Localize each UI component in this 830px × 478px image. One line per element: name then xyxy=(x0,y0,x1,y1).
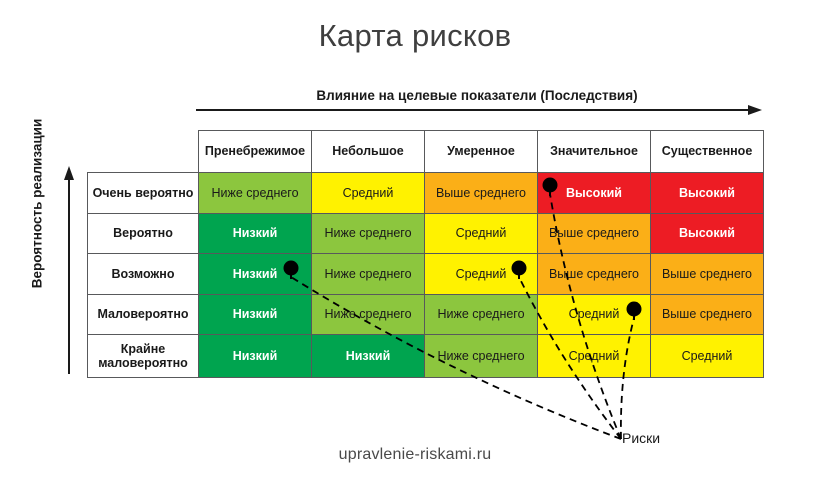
up-arrow-icon xyxy=(62,166,76,374)
matrix-cell-0-0[interactable]: Ниже среднего xyxy=(199,173,312,214)
risk-matrix: Пренебрежимое Небольшое Умеренное Значит… xyxy=(87,130,764,378)
page-title: Карта рисков xyxy=(0,18,830,54)
matrix-cell-4-0[interactable]: Низкий xyxy=(199,335,312,378)
column-header-2: Умеренное xyxy=(425,131,538,173)
matrix-cell-2-1[interactable]: Ниже среднего xyxy=(312,254,425,295)
matrix-row: Маловероятно Низкий Ниже среднего Ниже с… xyxy=(88,294,764,335)
matrix-cell-3-3[interactable]: Средний xyxy=(538,294,651,335)
matrix-cell-2-2[interactable]: Средний xyxy=(425,254,538,295)
matrix-cell-2-3[interactable]: Выше среднего xyxy=(538,254,651,295)
matrix-cell-1-4[interactable]: Высокий xyxy=(651,213,764,254)
matrix-cell-0-4[interactable]: Высокий xyxy=(651,173,764,214)
matrix-cell-2-4[interactable]: Выше среднего xyxy=(651,254,764,295)
matrix-row: Вероятно Низкий Ниже среднего Средний Вы… xyxy=(88,213,764,254)
matrix-cell-0-3[interactable]: Высокий xyxy=(538,173,651,214)
matrix-cell-2-0[interactable]: Низкий xyxy=(199,254,312,295)
row-header-3: Маловероятно xyxy=(88,294,199,335)
matrix-cell-3-2[interactable]: Ниже среднего xyxy=(425,294,538,335)
matrix-row: Возможно Низкий Ниже среднего Средний Вы… xyxy=(88,254,764,295)
matrix-corner-cell xyxy=(88,131,199,173)
matrix-cell-4-2[interactable]: Ниже среднего xyxy=(425,335,538,378)
row-header-4: Крайне маловероятно xyxy=(88,335,199,378)
footer-url: upravlenie-riskami.ru xyxy=(0,446,830,464)
matrix-cell-1-0[interactable]: Низкий xyxy=(199,213,312,254)
matrix-row: Крайне маловероятно Низкий Низкий Ниже с… xyxy=(88,335,764,378)
matrix-cell-0-1[interactable]: Средний xyxy=(312,173,425,214)
risks-callout-label: Риски xyxy=(622,430,660,446)
matrix-row: Очень вероятно Ниже среднего Средний Выш… xyxy=(88,173,764,214)
matrix-cell-3-1[interactable]: Ниже среднего xyxy=(312,294,425,335)
column-header-0: Пренебрежимое xyxy=(199,131,312,173)
matrix-cell-1-1[interactable]: Ниже среднего xyxy=(312,213,425,254)
row-header-2: Возможно xyxy=(88,254,199,295)
matrix-cell-3-0[interactable]: Низкий xyxy=(199,294,312,335)
matrix-cell-3-4[interactable]: Выше среднего xyxy=(651,294,764,335)
x-axis-label: Влияние на целевые показатели (Последств… xyxy=(196,88,758,103)
right-arrow-icon xyxy=(196,103,762,117)
matrix-cell-0-2[interactable]: Выше среднего xyxy=(425,173,538,214)
matrix-cell-4-3[interactable]: Средний xyxy=(538,335,651,378)
column-header-4: Существенное xyxy=(651,131,764,173)
y-axis-label: Вероятность реализации xyxy=(30,104,45,304)
matrix-cell-4-1[interactable]: Низкий xyxy=(312,335,425,378)
column-header-3: Значительное xyxy=(538,131,651,173)
matrix-cell-1-3[interactable]: Выше среднего xyxy=(538,213,651,254)
column-header-1: Небольшое xyxy=(312,131,425,173)
matrix-header-row: Пренебрежимое Небольшое Умеренное Значит… xyxy=(88,131,764,173)
row-header-1: Вероятно xyxy=(88,213,199,254)
row-header-0: Очень вероятно xyxy=(88,173,199,214)
matrix-cell-4-4[interactable]: Средний xyxy=(651,335,764,378)
matrix-cell-1-2[interactable]: Средний xyxy=(425,213,538,254)
